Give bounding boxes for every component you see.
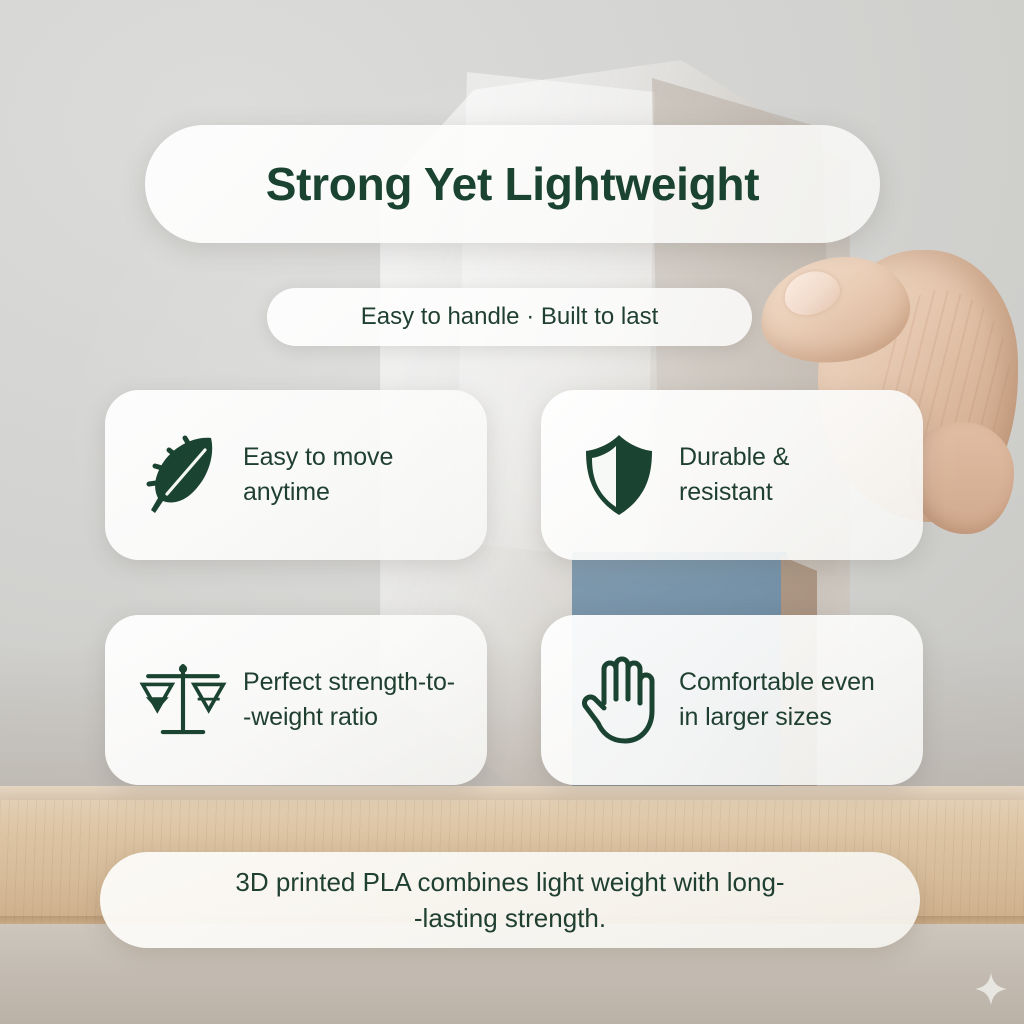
feature-card-grid: Easy to move anytime Durable & resistant	[105, 390, 923, 785]
feature-label: Perfect strength-to- -weight ratio	[243, 665, 455, 736]
page-title: Strong Yet Lightweight	[266, 157, 759, 211]
footer-text: 3D printed PLA combines light weight wit…	[235, 864, 784, 937]
subtitle-pill: Easy to handle · Built to last	[267, 288, 752, 346]
feature-label: Durable & resistant	[679, 440, 789, 511]
open-hand-icon	[575, 652, 663, 748]
feature-card-durable[interactable]: Durable & resistant	[541, 390, 923, 560]
feature-card-strength-to-weight[interactable]: Perfect strength-to- -weight ratio	[105, 615, 487, 785]
feature-label: Comfortable even in larger sizes	[679, 665, 875, 736]
sparkle-icon	[974, 972, 1008, 1006]
page-subtitle: Easy to handle · Built to last	[361, 303, 659, 331]
shield-icon	[575, 427, 663, 523]
feather-icon	[139, 427, 227, 523]
feature-card-comfortable[interactable]: Comfortable even in larger sizes	[541, 615, 923, 785]
footer-pill: 3D printed PLA combines light weight wit…	[100, 852, 920, 948]
feature-label: Easy to move anytime	[243, 440, 393, 511]
feature-card-easy-to-move[interactable]: Easy to move anytime	[105, 390, 487, 560]
infographic-canvas: Strong Yet Lightweight Easy to handle · …	[0, 0, 1024, 1024]
title-pill: Strong Yet Lightweight	[145, 125, 880, 243]
balance-scale-icon	[139, 652, 227, 748]
